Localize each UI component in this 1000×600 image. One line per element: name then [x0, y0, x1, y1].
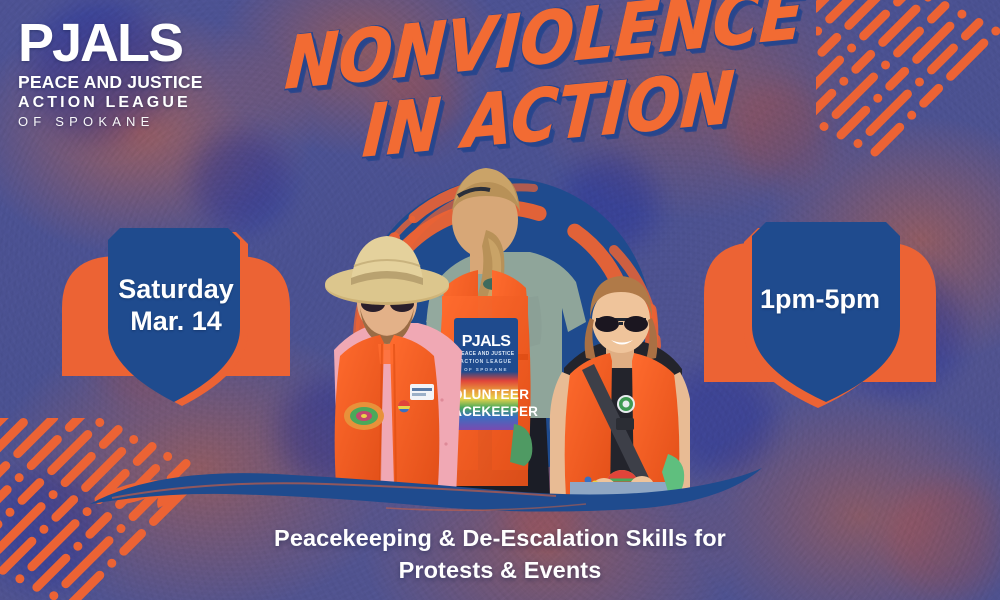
svg-text:ACTION LEAGUE: ACTION LEAGUE — [460, 359, 512, 365]
event-flyer: PJALS PEACE AND JUSTICE ACTION LEAGUE OF… — [0, 0, 1000, 600]
svg-text:OF SPOKANE: OF SPOKANE — [464, 367, 508, 372]
event-subtitle-line-2: Protests & Events — [150, 554, 850, 586]
svg-text:PEACE AND JUSTICE: PEACE AND JUSTICE — [458, 351, 515, 357]
logo-tagline-line-2: ACTION LEAGUE — [18, 95, 203, 111]
logo-tagline-line-1: PEACE AND JUSTICE — [18, 74, 203, 92]
logo-wordmark: PJALS — [18, 16, 203, 70]
date-badge: Saturday Mar. 14 — [58, 228, 294, 410]
diagonal-dashes-icon — [816, 0, 1000, 165]
brush-swoosh-icon — [86, 452, 766, 514]
event-subtitle-line-1: Peacekeeping & De-Escalation Skills for — [150, 522, 850, 554]
pjals-logo: PJALS PEACE AND JUSTICE ACTION LEAGUE OF… — [18, 16, 203, 128]
event-subtitle: Peacekeeping & De-Escalation Skills for … — [150, 522, 850, 587]
svg-text:PJALS: PJALS — [462, 333, 511, 350]
time-badge: 1pm-5pm — [700, 222, 940, 412]
logo-tagline-line-3: OF SPOKANE — [18, 115, 203, 128]
peacekeepers-photo: PJALS PEACE AND JUSTICE ACTION LEAGUE OF… — [318, 168, 690, 498]
